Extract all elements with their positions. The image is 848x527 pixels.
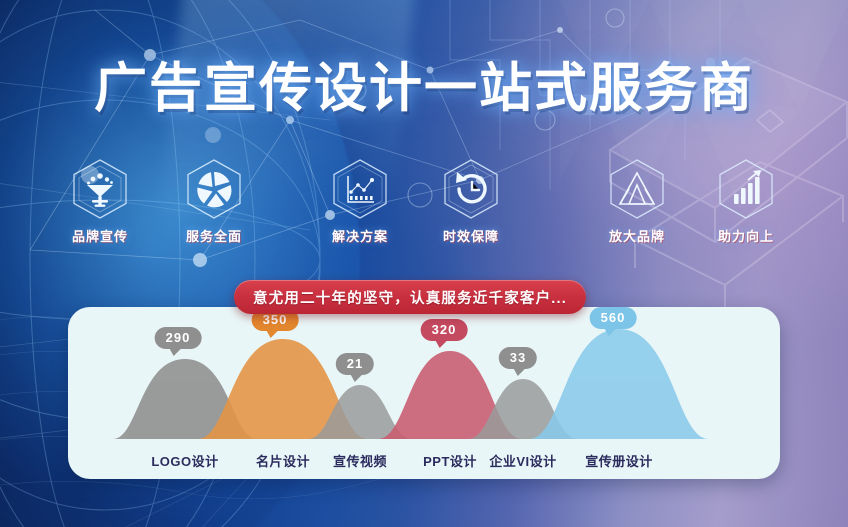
axis-label: 名片设计 bbox=[256, 451, 310, 470]
curve-huace bbox=[529, 329, 709, 439]
light-sheen-decoration bbox=[153, 0, 416, 301]
feature-item-growth[interactable]: 助力向上 bbox=[698, 158, 794, 245]
value-bubble-logo: 290 bbox=[155, 327, 202, 349]
value-bubble-vi: 33 bbox=[499, 347, 537, 369]
clock-rewind-icon bbox=[423, 158, 519, 220]
axis-label: 宣传视频 bbox=[333, 451, 387, 470]
feature-label: 品牌宣传 bbox=[52, 226, 148, 245]
feature-label: 服务全面 bbox=[166, 226, 262, 245]
feature-label: 时效保障 bbox=[423, 226, 519, 245]
megaphone-icon bbox=[52, 158, 148, 220]
tagline-ribbon: 意尤用二十年的坚守，认真服务近千家客户... bbox=[234, 280, 586, 314]
triangle-amplify-icon bbox=[589, 158, 685, 220]
value-bubble-huace: 560 bbox=[590, 307, 637, 329]
page-title: 广告宣传设计一站式服务商 bbox=[0, 58, 848, 120]
value-bubble-ppt: 320 bbox=[421, 319, 468, 341]
chart-axis-labels: LOGO设计 名片设计 宣传视频 PPT设计 企业VI设计 宣传册设计 bbox=[68, 447, 780, 479]
axis-label: LOGO设计 bbox=[151, 451, 218, 470]
promo-banner: 广告宣传设计一站式服务商 品 bbox=[0, 0, 848, 527]
axis-label: 企业VI设计 bbox=[489, 451, 556, 470]
feature-icon-row: 品牌宣传 服务全面 bbox=[0, 158, 848, 248]
feature-label: 解决方案 bbox=[312, 226, 408, 245]
feature-item-solutions[interactable]: 解决方案 bbox=[312, 158, 408, 245]
chart-card: 290 350 21 320 33 560 LOGO设计 名片设计 宣传视频 P… bbox=[68, 307, 780, 479]
feature-item-timeliness[interactable]: 时效保障 bbox=[423, 158, 519, 245]
feature-item-brand-promotion[interactable]: 品牌宣传 bbox=[52, 158, 148, 245]
value-bubble-video: 21 bbox=[336, 353, 374, 375]
feature-item-amplify-brand[interactable]: 放大品牌 bbox=[589, 158, 685, 245]
feature-label: 放大品牌 bbox=[589, 226, 685, 245]
feature-item-full-service[interactable]: 服务全面 bbox=[166, 158, 262, 245]
tagline-text: 意尤用二十年的坚守，认真服务近千家客户... bbox=[253, 287, 567, 308]
axis-label: PPT设计 bbox=[423, 451, 477, 470]
bar-growth-icon bbox=[698, 158, 794, 220]
aperture-icon bbox=[166, 158, 262, 220]
axis-label: 宣传册设计 bbox=[585, 451, 653, 470]
feature-label: 助力向上 bbox=[698, 226, 794, 245]
analytics-chart-icon bbox=[312, 158, 408, 220]
bell-curve-chart: 290 350 21 320 33 560 bbox=[68, 307, 780, 447]
